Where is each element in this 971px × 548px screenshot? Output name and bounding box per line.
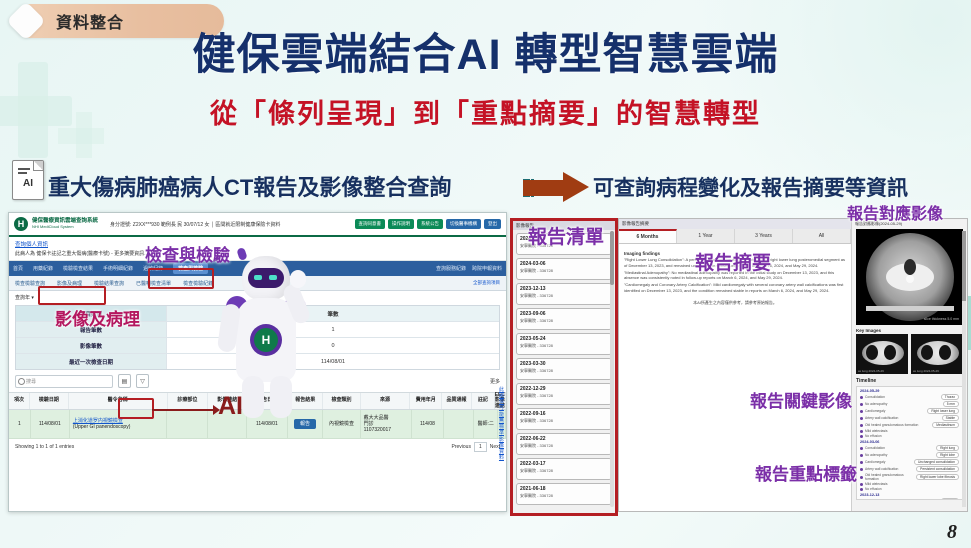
timeline-item: Cardiomegaly (865, 409, 925, 413)
report-list-panel[interactable]: 影像報告 2024-05-29 安寧醫院 - 336728 2024-03-06… (510, 218, 618, 516)
timeline-item: Cardiomegaly (865, 460, 912, 464)
timeline-box[interactable]: 2024-05-29 ConsolidationThorax No adenop… (856, 386, 963, 500)
report-date: 2021-06-18 (520, 486, 608, 492)
report-source: 安寧醫院 - 336728 (520, 468, 608, 474)
summary-finding: "Cardiomegaly and Coronary Artery Calcif… (624, 282, 846, 294)
bullet-icon (860, 488, 863, 491)
report-source: 安寧醫院 - 336728 (520, 418, 608, 424)
cell-order-name-en: (Upper GI panendoscopy) (73, 424, 131, 430)
timeline-group: 2024-03-06 ConsolidationRight lung No ad… (860, 440, 959, 491)
cell-site (167, 410, 208, 438)
timeline-tag[interactable]: Lesion (941, 498, 959, 500)
list-item[interactable]: 2023-09-06 安寧醫院 - 336728 (516, 308, 612, 330)
report-date: 2024-03-06 (520, 261, 608, 267)
caption-right: 可查詢病程變化及報告摘要等資訊 (593, 172, 908, 202)
report-date: 2022-03-17 (520, 461, 608, 467)
key-image-thumb[interactable]: ax lung 2024-05-29 (911, 334, 963, 374)
summary-disclaimer: 本AI所產生之內容僅供參考，請參考原始報告。 (624, 300, 846, 306)
col-exam-date: 檢驗日期 (30, 393, 69, 409)
export-excel-icon[interactable]: ▤ (118, 374, 131, 388)
annotation-image-and-pathology: 影像及病理 (55, 305, 140, 330)
page-number: 8 (947, 521, 957, 544)
bullet-icon (860, 500, 863, 501)
caption-left: 重大傷病肺癌病人CT報告及影像整合查詢 (48, 170, 451, 202)
timeline-tag[interactable]: Stable (942, 415, 959, 421)
cell-exam-date: 114/08/01 (31, 410, 70, 438)
bullet-icon (860, 476, 863, 479)
subnav-tab-exam-records[interactable]: 檢查檢驗紀錄 (183, 280, 213, 287)
report-date: 2022-09-16 (520, 411, 608, 417)
nav-tab-lab-results[interactable]: 檢驗檢查結果 (63, 265, 93, 272)
timeline-item: Consolidation (865, 395, 939, 399)
tab-all[interactable]: All (793, 229, 851, 243)
summary-row-value: 0 (167, 338, 499, 353)
col-site: 診療部位 (168, 393, 209, 409)
nhi-logo-icon: H (14, 217, 28, 231)
report-source: 安寧醫院 - 336728 (520, 368, 608, 374)
app-header: H 健保醫療資訊雲端查詢系統 NHI MediCloud System 身分證號… (9, 213, 506, 237)
summary-row-label: 最近一次檢查日期 (16, 354, 167, 369)
timeline-tag[interactable]: Right lung (936, 445, 959, 451)
subnav-all-items-link[interactable]: 全部查詢項目 (473, 280, 500, 286)
header-button-switch-org[interactable]: 切換醫事機構 (446, 219, 481, 229)
report-list[interactable]: 2024-05-29 安寧醫院 - 336728 2024-03-06 安寧醫院… (513, 230, 615, 508)
search-input[interactable]: 搜尋 (15, 375, 113, 388)
key-image-thumb[interactable]: ax lung 2024-05-29 (856, 334, 908, 374)
header-button-consent[interactable]: 查詢同意書 (355, 219, 386, 229)
bullet-icon (860, 483, 863, 486)
list-item[interactable]: 2022-09-16 安寧醫院 - 336728 (516, 408, 612, 430)
pagination-page-1[interactable]: 1 (474, 442, 487, 452)
report-source: 安寧醫院 - 336728 (520, 293, 608, 299)
timeline-date: 2024-05-29 (860, 389, 959, 393)
timeline-tag[interactable]: Thorax (941, 394, 959, 400)
tab-6-months[interactable]: 6 Months (619, 229, 677, 243)
bullet-icon (860, 447, 863, 450)
subnav-tab-lab-result-query[interactable]: 檢驗結果查詢 (94, 280, 124, 287)
timeline-item: No effusion (865, 434, 959, 438)
timeline-item: No adenopathy (865, 402, 941, 406)
key-image-caption: ax lung 2024-05-29 (858, 369, 884, 373)
timeline-item: No adenopathy (865, 453, 934, 457)
timeline-tag[interactable]: Mediastinum (932, 422, 959, 428)
timeline-tag[interactable]: 5 mm (943, 401, 959, 407)
col-quality: 品質通報 (442, 393, 472, 409)
report-source: 安寧醫院 - 336728 (520, 443, 608, 449)
report-date: 2023-05-24 (520, 336, 608, 342)
cell-fee-month: 114/08 (412, 410, 444, 438)
filter-funnel-icon[interactable]: ▽ (136, 374, 149, 388)
summary-scrollbar[interactable] (962, 231, 966, 507)
bullet-icon (860, 396, 863, 399)
header-button-help[interactable]: 操作說明 (388, 219, 414, 229)
timeline-item: Consolidation (865, 499, 939, 500)
page-title: 健保雲端結合AI 轉型智慧雲端 (0, 20, 971, 82)
bullet-icon (860, 435, 863, 438)
list-item[interactable]: 2024-03-06 安寧醫院 - 336728 (516, 258, 612, 280)
subnav-tab-exam-query[interactable]: 檢查檢驗查詢 (15, 280, 45, 287)
ct-image-tag: slice thickness 5.0 mm (924, 317, 959, 321)
ai-pointer-arrow (152, 409, 214, 411)
bullet-icon (860, 424, 863, 427)
report-date: 2022-12-29 (520, 386, 608, 392)
report-list-scrollbar[interactable] (610, 231, 614, 507)
timeline-date: 2023-12-13 (860, 493, 959, 497)
cell-note: 醫師:二 (474, 410, 498, 438)
timeline-item: Consolidation (865, 446, 934, 450)
annotation-report-key-images: 報告關鍵影像 (750, 387, 852, 412)
bullet-icon (860, 417, 863, 420)
cell-source-line3: 1107320017 (364, 427, 391, 433)
report-source: 安寧醫院 - 336728 (520, 393, 608, 399)
query-personal-info-link[interactable]: 查詢個人資訊 (15, 240, 500, 248)
report-source: 安寧醫院 - 336728 (520, 268, 608, 274)
list-item[interactable]: 2022-12-29 安寧醫院 - 336728 (516, 383, 612, 405)
pagination-previous[interactable]: Previous (451, 444, 470, 450)
summary-row-value: 114/08/01 (167, 354, 499, 369)
summary-row-value: 1 (167, 322, 499, 337)
cell-quality (444, 410, 474, 438)
cell-seq: 1 (9, 410, 31, 438)
timeline-tag[interactable]: Persistent consolidation (916, 466, 959, 472)
timeline-tag[interactable]: Right lower lobe fibrosis (916, 474, 959, 480)
filter-year-select[interactable]: 查詢年 ▾ (15, 294, 34, 301)
more-link[interactable]: 更多 (490, 378, 500, 385)
timeline-tag[interactable]: Right lobe (936, 452, 959, 458)
system-name-en: NHI MediCloud System (32, 225, 98, 229)
timeline-item: Mild atelectasis (865, 429, 959, 433)
nav-right-service-record[interactable]: 查詢服務紀錄 (436, 265, 466, 272)
table-footer: Showing 1 to 1 of 1 entries Previous 1 N… (9, 439, 506, 455)
col-seq: 項次 (9, 393, 30, 409)
tab-3-years[interactable]: 3 Years (735, 229, 793, 243)
list-item[interactable]: 2023-03-30 安寧醫院 - 336728 (516, 358, 612, 380)
key-image-caption: ax lung 2024-05-29 (913, 369, 939, 373)
timeline-date: 2024-03-06 (860, 440, 959, 444)
bullet-icon (860, 461, 863, 464)
header-button-group[interactable]: 查詢同意書 操作說明 系統公告 切換醫事機構 登出 (355, 219, 502, 229)
bullet-icon (860, 403, 863, 406)
header-button-logout[interactable]: 登出 (484, 219, 501, 229)
summary-range-tabs[interactable]: 6 Months 1 Year 3 Years All (619, 229, 851, 244)
list-item[interactable]: 2023-12-13 安寧醫院 - 336728 (516, 283, 612, 305)
bullet-icon (860, 430, 863, 433)
right-arrow-icon (523, 172, 593, 202)
timeline-item: No effusion (865, 487, 959, 491)
search-icon (18, 378, 25, 385)
nav-right-cross-hospital[interactable]: 跨院申報資料 (472, 265, 502, 272)
key-images-title: Key Images (852, 325, 967, 334)
timeline-group: 2023-12-13 ConsolidationLesion No adenop… (860, 493, 959, 500)
timeline-item: Old healed granulomatous formation (865, 473, 914, 481)
report-date: 2023-03-30 (520, 361, 608, 367)
timeline-item: Artery wall calcification (865, 467, 914, 471)
annotation-report-images: 報告對應影像 (847, 200, 943, 224)
ct-main-image[interactable]: slice thickness 5.0 mm (856, 229, 963, 325)
annotation-report-key-tags: 報告重點標籤 (755, 460, 857, 485)
col-order-name: 醫令名稱 (69, 393, 168, 409)
report-source: 安寧醫院 - 336728 (520, 318, 608, 324)
header-button-notice[interactable]: 系統公告 (417, 219, 443, 229)
nav-tab-surgery[interactable]: 手術明細紀錄 (103, 265, 133, 272)
timeline-item: Artery wall calcification (865, 416, 940, 420)
col-note: 註記 (472, 393, 495, 409)
col-fee-month: 費用年月 (410, 393, 442, 409)
bullet-icon (860, 454, 863, 457)
list-item[interactable]: 2022-03-17 安寧醫院 - 336728 (516, 458, 612, 480)
timeline-tag[interactable]: Unchanged consolidation (914, 459, 959, 465)
report-date: 2023-09-06 (520, 311, 608, 317)
cell-category: 內視鏡檢查 (323, 410, 360, 438)
annotation-report-list: 報告清單 (528, 222, 604, 249)
summary-header: 影像報告摘要 (619, 219, 851, 229)
key-images-row[interactable]: ax lung 2024-05-29 ax lung 2024-05-29 (852, 334, 967, 374)
cell-eec-link[interactable]: 此圖像可能無標準影像資料 (498, 410, 506, 438)
list-item[interactable]: 2022-06-22 安寧醫院 - 336728 (516, 433, 612, 455)
timeline-item: Old healed granulomatous formation (865, 423, 930, 427)
annotation-report-summary: 報告摘要 (695, 248, 771, 275)
tab-1-year[interactable]: 1 Year (677, 229, 735, 243)
summary-col-count: 筆數 (167, 306, 499, 321)
search-placeholder: 搜尋 (26, 378, 36, 385)
report-date: 2022-06-22 (520, 436, 608, 442)
col-source: 來源 (361, 393, 411, 409)
list-item[interactable]: 2023-05-24 安寧醫院 - 336728 (516, 333, 612, 355)
report-date: 2023-12-13 (520, 286, 608, 292)
col-category: 檢查類別 (323, 393, 360, 409)
timeline-title: Timeline (852, 374, 967, 386)
page-subtitle: 從「條列呈現」到「重點摘要」的智慧轉型 (0, 92, 971, 131)
list-item[interactable]: 2021-06-18 安寧醫院 - 336728 (516, 483, 612, 505)
robot-mascot: H (218, 256, 314, 421)
timeline-item: Mild atelectasis (865, 482, 959, 486)
ai-document-icon: AI (12, 160, 44, 200)
nav-tab-home[interactable]: 首頁 (13, 265, 23, 272)
subnav-tab-ordered-exams[interactable]: 已醫囑檢查清單 (136, 280, 171, 287)
bullet-icon (860, 410, 863, 413)
nav-tab-allergy[interactable]: 過敏紀錄 (143, 265, 163, 272)
nav-tab-medication[interactable]: 用藥紀錄 (33, 265, 53, 272)
report-source: 安寧醫院 - 336728 (520, 343, 608, 349)
summary-row-label: 影像筆數 (16, 338, 167, 353)
showing-entries-label: Showing 1 to 1 of 1 entries (15, 444, 74, 450)
pagination-next[interactable]: Next (490, 444, 500, 450)
timeline-group: 2024-05-29 ConsolidationThorax No adenop… (860, 389, 959, 438)
bullet-icon (860, 468, 863, 471)
timeline-tag[interactable]: Right lower lung (927, 408, 959, 414)
pagination[interactable]: Previous 1 Next (451, 442, 500, 452)
patient-header-meta: 身分證號: Z2XX***930 範例長 民 30/07/12 女 │ 區間就近… (110, 221, 280, 228)
subnav-tab-image-pathology[interactable]: 影像及病理 (57, 280, 82, 287)
summary-image-side: 報告對應影像(2024-05-29) slice thickness 5.0 m… (852, 219, 967, 511)
report-source: 安寧醫院 - 336728 (520, 493, 608, 499)
